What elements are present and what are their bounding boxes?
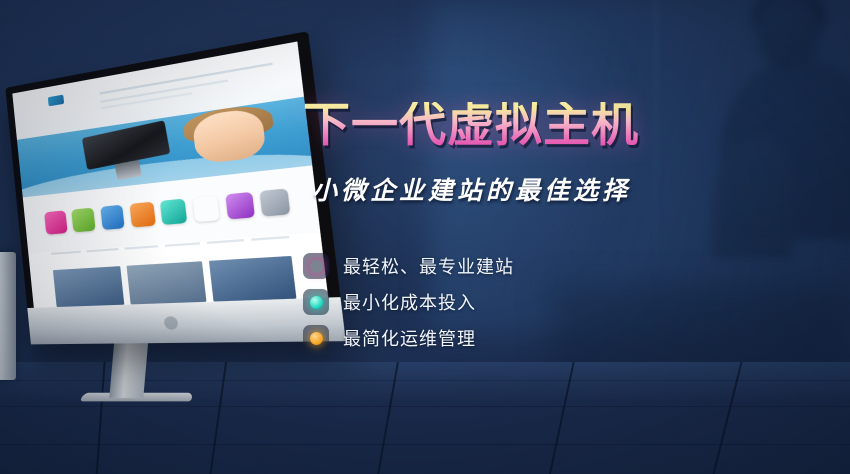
vignette-overlay xyxy=(0,0,850,474)
promo-banner-image: 下一代虚拟主机 小微企业建站的最佳选择 最轻松、最专业建站 最小化成本投入 最简… xyxy=(0,0,850,474)
